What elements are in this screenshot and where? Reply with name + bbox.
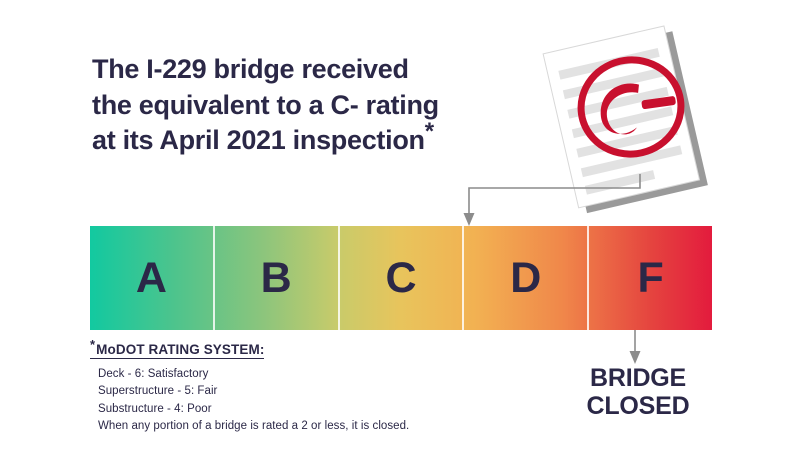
footnote-title-text: MoDOT RATING SYSTEM: — [96, 342, 264, 357]
grade-cell-a: A — [90, 226, 215, 330]
list-item: Deck - 6: Satisfactory — [98, 366, 490, 383]
list-item: When any portion of a bridge is rated a … — [98, 418, 490, 435]
bridge-closed-line-1: BRIDGE — [568, 364, 708, 392]
connector-paper-to-bar — [440, 170, 670, 232]
arrowhead-down-icon — [464, 213, 475, 226]
connector-bar-to-closed — [620, 330, 650, 368]
rating-scale-bar: A B C D F — [90, 226, 712, 330]
footnote-list: Deck - 6: Satisfactory Superstructure - … — [98, 366, 490, 436]
footnote-block: *MoDOT RATING SYSTEM: Deck - 6: Satisfac… — [90, 341, 490, 436]
list-item: Superstructure - 5: Fair — [98, 383, 490, 400]
infographic-canvas: The I-229 bridge received the equivalent… — [0, 0, 800, 450]
headline-line-2: the equivalent to a C- rating — [92, 88, 522, 124]
footnote-star: * — [90, 337, 95, 352]
arrowhead-down-icon — [630, 351, 641, 364]
headline-line-3: at its April 2021 inspection* — [92, 123, 522, 159]
grade-cell-d: D — [464, 226, 589, 330]
grade-letter-d: D — [510, 257, 541, 300]
grade-letter-c: C — [385, 257, 416, 300]
grade-letter-b: B — [261, 257, 292, 300]
grade-letter-f: F — [637, 257, 663, 300]
headline-line-1: The I-229 bridge received — [92, 52, 522, 88]
bridge-closed-label: BRIDGE CLOSED — [568, 364, 708, 420]
list-item: Substructure - 4: Poor — [98, 401, 490, 418]
headline-line-3-text: at its April 2021 inspection — [92, 125, 425, 155]
grade-cell-c: C — [340, 226, 465, 330]
footnote-title: *MoDOT RATING SYSTEM: — [90, 342, 264, 359]
headline-asterisk: * — [425, 118, 434, 145]
grade-cell-f: F — [589, 226, 712, 330]
page-title: The I-229 bridge received the equivalent… — [92, 52, 522, 159]
bridge-closed-line-2: CLOSED — [568, 392, 708, 420]
grade-letter-a: A — [136, 257, 167, 300]
grade-cell-b: B — [215, 226, 340, 330]
